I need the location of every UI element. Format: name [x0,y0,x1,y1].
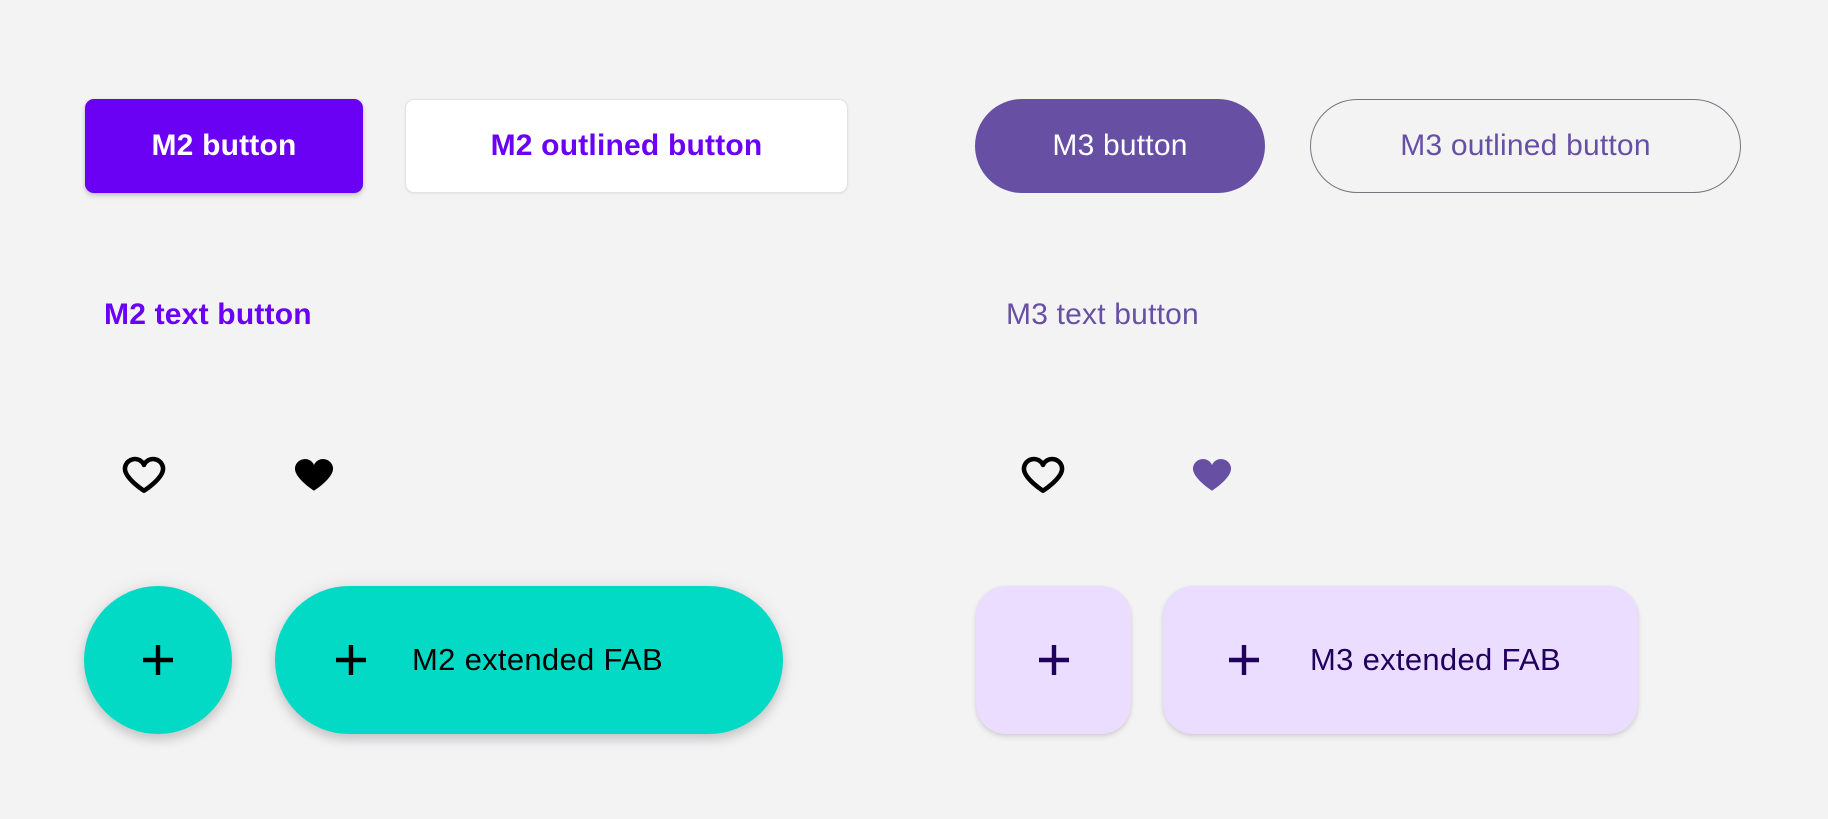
comparison-stage: M2 button M2 outlined button M3 button M… [0,0,1828,819]
m3-outlined-button-label: M3 outlined button [1400,129,1650,163]
m3-extended-fab-label: M3 extended FAB [1310,642,1561,678]
m2-filled-button[interactable]: M2 button [85,99,363,193]
heart-filled-icon [1186,450,1238,502]
m3-filled-button[interactable]: M3 button [975,99,1265,193]
m2-outlined-button[interactable]: M2 outlined button [405,99,848,193]
m2-fab[interactable] [84,586,232,734]
m3-outlined-button[interactable]: M3 outlined button [1310,99,1741,193]
heart-outline-icon [118,450,170,502]
m2-outlined-button-label: M2 outlined button [491,129,763,163]
m2-extended-fab-label: M2 extended FAB [412,642,663,678]
m3-heart-filled-icon-button[interactable] [1183,447,1241,505]
heart-outline-icon [1017,450,1069,502]
m2-filled-button-label: M2 button [151,129,296,163]
m3-filled-button-label: M3 button [1052,129,1187,163]
heart-filled-icon [288,450,340,502]
m2-extended-fab[interactable]: M2 extended FAB [275,586,783,734]
m2-heart-filled-icon-button[interactable] [285,447,343,505]
m3-text-button[interactable]: M3 text button [1006,294,1199,336]
m2-text-button[interactable]: M2 text button [104,294,312,336]
plus-icon [327,636,375,684]
plus-icon [1220,636,1268,684]
m3-extended-fab[interactable]: M3 extended FAB [1163,586,1638,734]
plus-icon [134,636,182,684]
m2-heart-outline-icon-button[interactable] [115,447,173,505]
m2-text-button-label: M2 text button [104,298,312,332]
plus-icon [1030,636,1078,684]
m3-heart-outline-icon-button[interactable] [1014,447,1072,505]
m3-text-button-label: M3 text button [1006,298,1199,332]
m3-fab[interactable] [976,586,1131,734]
